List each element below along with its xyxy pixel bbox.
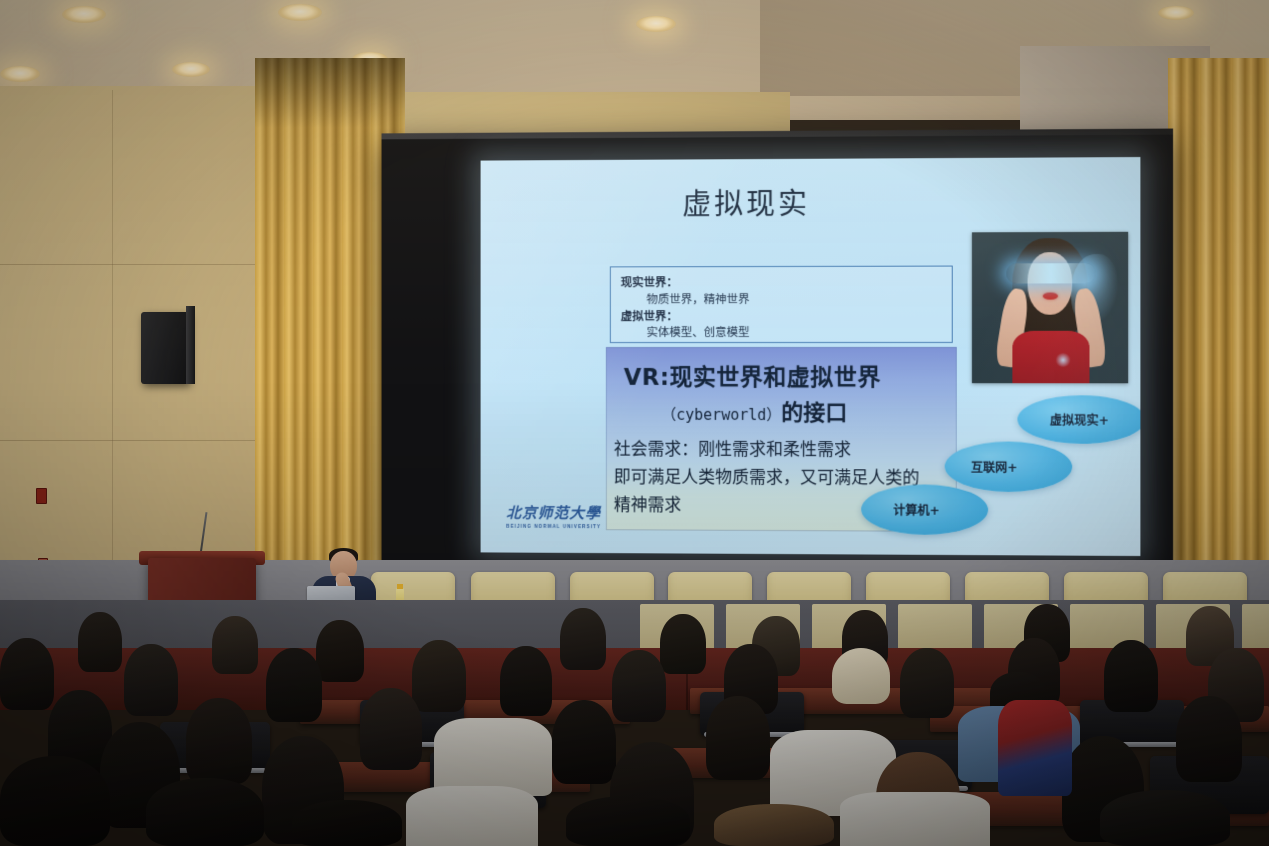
logo-chinese-text: 北京师范大學 (506, 502, 601, 523)
wall-speaker-icon (141, 312, 189, 384)
audience-member (560, 608, 606, 670)
material-demand-line: 即可满足人类物质需求，又可满足人类的 (614, 463, 920, 489)
audience-member (124, 644, 178, 716)
photo-sparkle (1055, 353, 1071, 367)
audience-member (186, 698, 252, 784)
downlight-icon (0, 66, 40, 82)
audience-member-cap (832, 648, 890, 704)
downlight-icon (1158, 6, 1194, 20)
audience-member-foreground (840, 792, 990, 846)
audience-member-foreground (714, 804, 834, 846)
ellipse-label: 虚拟现实+ (1050, 411, 1109, 428)
photo-lips (1043, 293, 1058, 300)
audience-member-foreground (0, 756, 110, 846)
downlight-icon (62, 6, 106, 23)
virtual-world-value: 实体模型、创意模型 (621, 326, 750, 339)
curtain-shadow (255, 58, 405, 128)
audience-member (78, 612, 122, 672)
social-demand-line: 社会需求：刚性需求和柔性需求 (614, 435, 851, 461)
audience-member-foreground (566, 796, 690, 846)
lecture-hall-photo: 虚拟现实 现实世界： 物质世界，精神世界 虚拟世界： 实体模型、创意模型 VR:… (0, 0, 1269, 846)
slide-title-wrap: 虚拟现实 (597, 180, 896, 223)
audience-member-jacket (998, 700, 1072, 796)
real-world-label: 现实世界： (621, 276, 678, 289)
audience-member (212, 616, 258, 674)
audience-member (1104, 640, 1158, 712)
audience-member (706, 696, 770, 780)
audience-member (266, 648, 322, 722)
vr-subline: （cyberworld）的接口 (661, 395, 847, 427)
real-world-value: 物质世界，精神世界 (621, 293, 750, 306)
audience-member (500, 646, 552, 716)
audience-member-white-shirt (434, 718, 552, 796)
virtual-world-label: 虚拟世界： (621, 310, 678, 323)
interface-text: 的接口 (781, 401, 847, 426)
spiritual-demand-line: 精神需求 (614, 490, 681, 515)
audience-member (660, 614, 706, 674)
speaker-bracket (186, 306, 195, 384)
audience-member (552, 700, 616, 784)
audience-member-foreground (1100, 790, 1230, 846)
ellipse-label: 互联网+ (971, 458, 1018, 475)
downlight-icon (278, 4, 322, 21)
audience-member-foreground (146, 778, 264, 846)
audience-member (0, 638, 54, 710)
audience-member-foreground (292, 800, 402, 846)
ellipse-label: 计算机+ (893, 501, 939, 518)
projection-screen: 虚拟现实 现实世界： 物质世界，精神世界 虚拟世界： 实体模型、创意模型 VR:… (382, 129, 1174, 582)
projected-slide: 虚拟现实 现实世界： 物质世界，精神世界 虚拟世界： 实体模型、创意模型 VR:… (481, 157, 1141, 556)
cyberworld-text: （cyberworld） (661, 406, 781, 424)
ellipse-internet: 互联网+ (945, 441, 1073, 492)
ellipse-virtual-reality: 虚拟现实+ (1017, 395, 1140, 444)
slide-canvas: 虚拟现实 现实世界： 物质世界，精神世界 虚拟世界： 实体模型、创意模型 VR:… (481, 157, 1141, 556)
downlight-icon (172, 62, 210, 77)
university-logo: 北京师范大學 BEIJING NORMAL UNIVERSITY (506, 502, 601, 529)
slide-title: 虚拟现实 (597, 180, 896, 223)
definitions-box: 现实世界： 物质世界，精神世界 虚拟世界： 实体模型、创意模型 (610, 266, 953, 343)
vr-headline: VR:现实世界和虚拟世界 (624, 358, 881, 392)
audience-member (360, 688, 422, 770)
photo-red-top (1012, 331, 1089, 383)
audience-member (900, 648, 954, 718)
fire-alarm-icon (36, 488, 47, 504)
audience-member (612, 650, 666, 722)
ellipse-computer: 计算机+ (861, 484, 988, 535)
vr-headset-photo (972, 232, 1128, 383)
audience-member (412, 640, 466, 712)
audience-member (1176, 696, 1242, 782)
audience-member (316, 620, 364, 682)
audience-member-foreground (406, 786, 538, 846)
downlight-icon (636, 16, 676, 32)
logo-english-text: BEIJING NORMAL UNIVERSITY (506, 524, 601, 529)
